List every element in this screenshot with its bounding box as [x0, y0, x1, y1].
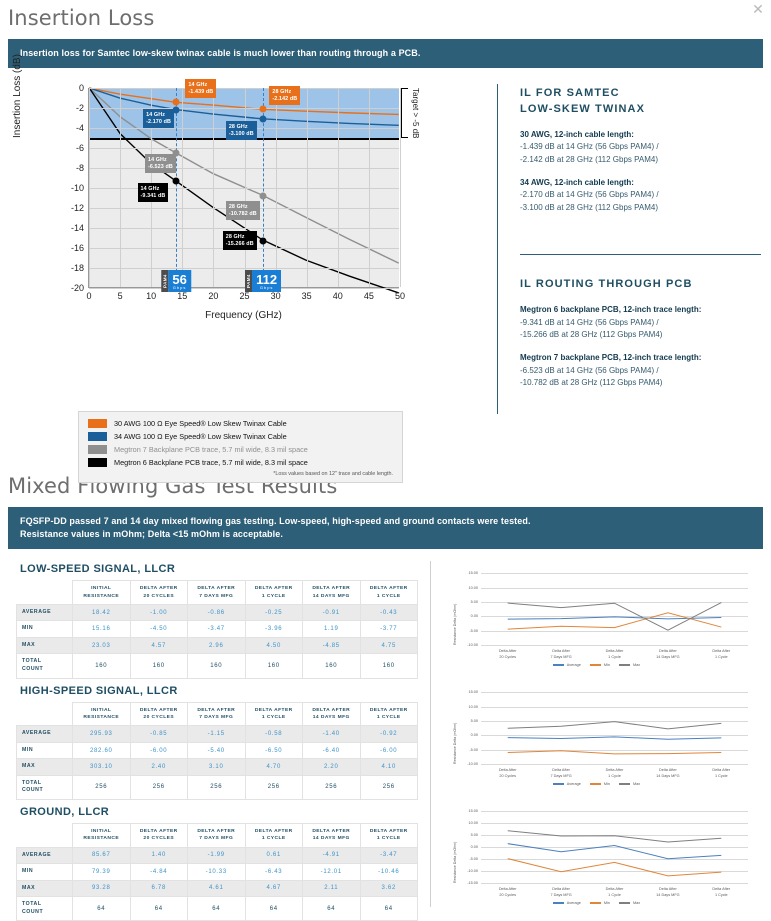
chart-data-point	[260, 106, 267, 113]
chart-gridline-h	[89, 148, 399, 149]
page-title-insertion-loss: Insertion Loss	[0, 0, 771, 30]
table-cell: -0.25	[245, 604, 303, 621]
mini-chart-x-tick: Delta After 1 Cycle	[606, 887, 624, 898]
mini-chart-gridline	[481, 645, 748, 646]
table-cell: -6.40	[303, 742, 361, 759]
table-cell: 64	[360, 897, 418, 921]
table-row: MAX23.034.572.964.50-4.854.75	[17, 637, 418, 654]
table-cell: -0.85	[130, 726, 188, 743]
chart-callout-label: 14 GHz -2.170 dB	[143, 109, 174, 128]
mini-chart-y-tick: -10.00	[467, 643, 478, 647]
insertion-loss-body: Insertion Loss (dB) 05101520253035404550…	[0, 68, 771, 420]
mini-chart-series-line	[508, 603, 722, 631]
mini-chart-legend-swatch	[590, 664, 601, 666]
chart-x-tick: 35	[302, 291, 312, 301]
mini-chart-y-axis-title: Resistance Delta (mOhm)	[453, 692, 457, 764]
chart-x-tick: 15	[177, 291, 187, 301]
chart-y-tick: 0	[79, 83, 84, 93]
table-cell: 2.40	[130, 759, 188, 776]
mfg-mini-chart: Resistance Delta (mOhm)15.0010.005.000.0…	[439, 807, 754, 904]
il-30awg-line2: -2.142 dB at 28 GHz (112 Gbps PAM4)	[520, 154, 761, 166]
chart-legend: 30 AWG 100 Ω Eye Speed® Low Skew Twinax …	[78, 411, 403, 483]
chart-legend-note: *Loss values based on 12" trace and cabl…	[88, 471, 393, 477]
mini-chart-legend-label: Max	[633, 663, 640, 667]
mini-chart-plot-area: 15.0010.005.000.00-5.00-10.00-15.00Delta…	[481, 811, 748, 883]
mini-chart-y-tick: 15.00	[468, 809, 478, 813]
table-title: GROUND, LLCR	[20, 806, 430, 818]
table-cell: 64	[245, 897, 303, 921]
chart-data-point	[260, 116, 267, 123]
table-cell: 4.50	[245, 637, 303, 654]
il-pcb-heading: IL ROUTING THROUGH PCB	[520, 277, 761, 293]
mini-chart-legend-item: Max	[619, 901, 640, 905]
mini-chart-series-line	[508, 859, 722, 876]
table-cell: 64	[188, 897, 246, 921]
mini-chart-legend: AverageMinMax	[439, 901, 754, 905]
table-cell: 64	[130, 897, 188, 921]
table-column-header	[17, 823, 73, 847]
table-row: TOTAL COUNT646464646464	[17, 897, 418, 921]
mini-chart-x-tick: Delta After 20 Cycles	[499, 649, 517, 660]
chart-gridline-h	[89, 108, 399, 109]
llcr-table: INITIAL RESISTANCEDELTA AFTER 20 CYCLESD…	[16, 702, 418, 800]
mini-chart-gridline	[481, 764, 748, 765]
table-cell: -0.92	[360, 726, 418, 743]
legend-label: Megtron 7 Backplane PCB trace, 5.7 mil w…	[114, 445, 308, 454]
legend-swatch	[88, 419, 107, 428]
table-cell: -0.86	[188, 604, 246, 621]
il-30awg-title: 30 AWG, 12-inch cable length:	[520, 129, 761, 141]
mini-chart-legend-label: Average	[567, 782, 581, 786]
table-cell: 160	[245, 654, 303, 678]
mini-chart-x-tick: Delta After 1 Cycle	[606, 649, 624, 660]
legend-item: 34 AWG 100 Ω Eye Speed® Low Skew Twinax …	[88, 432, 393, 441]
mini-chart-legend-label: Max	[633, 901, 640, 905]
table-cell: 303.10	[73, 759, 131, 776]
chart-y-tick: -12	[71, 203, 84, 213]
table-cell: 18.42	[73, 604, 131, 621]
chart-gridline-h	[89, 88, 399, 89]
mini-chart-y-tick: -5.00	[469, 629, 478, 633]
table-cell: 256	[73, 775, 131, 799]
chart-x-tick: 45	[364, 291, 374, 301]
mini-chart-x-tick: Delta After 1 Cycle	[712, 768, 730, 779]
table-row-header: AVERAGE	[17, 847, 73, 864]
table-cell: 6.78	[130, 880, 188, 897]
table-cell: 295.93	[73, 726, 131, 743]
chart-target-bracket: Target > -5 dB	[401, 88, 423, 138]
mini-chart-y-tick: 0.00	[471, 614, 478, 618]
table-row-header: MAX	[17, 759, 73, 776]
mini-chart-y-tick: 10.00	[468, 821, 478, 825]
pam4-tag: PAM4	[161, 270, 168, 292]
table-cell: -10.46	[360, 864, 418, 881]
mini-chart-series-line	[508, 613, 722, 629]
table-cell: 256	[188, 775, 246, 799]
table-cell: 256	[245, 775, 303, 799]
chart-y-tick: -4	[76, 123, 84, 133]
legend-swatch	[88, 458, 107, 467]
table-row: AVERAGE85.671.40-1.990.61-4.91-3.47	[17, 847, 418, 864]
table-cell: -4.50	[130, 621, 188, 638]
mini-chart-legend-swatch	[553, 664, 564, 666]
mini-chart-x-tick: Delta After 7 Days MFG	[550, 768, 571, 779]
table-cell: 4.67	[245, 880, 303, 897]
chart-gridline-h	[89, 188, 399, 189]
il-megtron6-line1: -9.341 dB at 14 GHz (56 Gbps PAM4) /	[520, 317, 761, 329]
table-column-header: DELTA AFTER 20 CYCLES	[130, 702, 188, 726]
mini-chart-legend: AverageMinMax	[439, 663, 754, 667]
table-cell: 160	[130, 654, 188, 678]
table-column-header: DELTA AFTER 14 DAYS MFG	[303, 702, 361, 726]
mini-chart-y-tick: 5.00	[471, 833, 478, 837]
table-cell: -0.58	[245, 726, 303, 743]
table-row: MIN79.39-4.84-10.33-6.43-12.01-10.46	[17, 864, 418, 881]
table-cell: -12.01	[303, 864, 361, 881]
mini-chart-legend-label: Min	[604, 782, 610, 786]
mini-chart-series-line	[508, 722, 722, 729]
chart-x-axis-title: Frequency (GHz)	[88, 310, 399, 321]
mini-chart-legend-label: Min	[604, 663, 610, 667]
mini-chart-series-svg	[481, 692, 748, 764]
table-row-header: MIN	[17, 864, 73, 881]
mini-chart-legend-swatch	[619, 664, 630, 666]
chart-pam4-badge: PAM4112Gbps	[245, 270, 281, 292]
chart-marker-line	[176, 88, 177, 287]
table-column-header: DELTA AFTER 7 DAYS MFG	[188, 823, 246, 847]
chart-plot-area: 051015202530354045500-2-4-6-8-10-12-14-1…	[88, 88, 399, 288]
mini-chart-legend-item: Average	[553, 663, 581, 667]
table-column-header	[17, 581, 73, 605]
pam4-rate: 56Gbps	[168, 270, 190, 292]
chart-gridline-h	[89, 228, 399, 229]
table-cell: -6.00	[130, 742, 188, 759]
chart-y-tick: -20	[71, 283, 84, 293]
table-cell: 4.75	[360, 637, 418, 654]
table-cell: 64	[303, 897, 361, 921]
legend-label: Megtron 6 Backplane PCB trace, 5.7 mil w…	[114, 458, 308, 467]
table-cell: -3.96	[245, 621, 303, 638]
mini-chart-x-tick: Delta After 20 Cycles	[499, 887, 517, 898]
table-cell: -3.47	[188, 621, 246, 638]
il-megtron7-line1: -6.523 dB at 14 GHz (56 Gbps PAM4) /	[520, 365, 761, 377]
il-megtron7-block: Megtron 7 backplane PCB, 12-inch trace l…	[520, 352, 761, 389]
mini-chart-legend-label: Min	[604, 901, 610, 905]
table-row: TOTAL COUNT160160160160160160	[17, 654, 418, 678]
mini-chart-legend-swatch	[553, 902, 564, 904]
table-cell: 64	[73, 897, 131, 921]
table-cell: 2.20	[303, 759, 361, 776]
table-cell: 256	[360, 775, 418, 799]
mini-chart-legend-item: Min	[590, 782, 610, 786]
legend-swatch	[88, 445, 107, 454]
table-cell: 2.11	[303, 880, 361, 897]
il-samtec-heading-line2: LOW-SKEW TWINAX	[520, 102, 761, 118]
chart-y-axis-title: Insertion Loss (dB)	[12, 54, 23, 138]
table-row-header: AVERAGE	[17, 726, 73, 743]
table-column-header: INITIAL RESISTANCE	[73, 702, 131, 726]
mini-chart-plot-area: 15.0010.005.000.00-5.00-10.00Delta After…	[481, 692, 748, 764]
table-cell: -1.15	[188, 726, 246, 743]
mini-chart-y-tick: 15.00	[468, 690, 478, 694]
il-megtron7-line2: -10.782 dB at 28 GHz (112 Gbps PAM4)	[520, 377, 761, 389]
mini-chart-x-tick: Delta After 14 Days MFG	[656, 649, 679, 660]
mini-chart-series-line	[508, 737, 722, 739]
table-cell: -0.43	[360, 604, 418, 621]
table-row: MIN282.60-6.00-5.40-6.50-6.40-6.00	[17, 742, 418, 759]
table-cell: 1.40	[130, 847, 188, 864]
mini-chart-x-tick: Delta After 7 Days MFG	[550, 649, 571, 660]
legend-label: 30 AWG 100 Ω Eye Speed® Low Skew Twinax …	[114, 419, 287, 428]
table-cell: 1.19	[303, 621, 361, 638]
table-row: MAX93.286.784.614.672.113.62	[17, 880, 418, 897]
table-cell: -1.99	[188, 847, 246, 864]
mini-chart-series-line	[508, 844, 722, 859]
pam4-rate-number: 56	[172, 273, 186, 286]
table-title: HIGH-SPEED SIGNAL, LLCR	[20, 685, 430, 697]
table-column-header: DELTA AFTER 1 CYCLE	[245, 702, 303, 726]
mini-chart-x-tick: Delta After 14 Days MFG	[656, 887, 679, 898]
table-cell: -0.91	[303, 604, 361, 621]
chart-y-tick: -14	[71, 223, 84, 233]
chart-data-point	[260, 192, 267, 199]
table-column-header: DELTA AFTER 14 DAYS MFG	[303, 823, 361, 847]
table-column-header: DELTA AFTER 20 CYCLES	[130, 581, 188, 605]
panel-divider	[520, 254, 761, 255]
chart-x-tick: 10	[146, 291, 156, 301]
llcr-table: INITIAL RESISTANCEDELTA AFTER 20 CYCLESD…	[16, 580, 418, 678]
table-cell: 93.28	[73, 880, 131, 897]
table-cell: 3.10	[188, 759, 246, 776]
table-cell: -4.85	[303, 637, 361, 654]
mini-chart-legend-item: Average	[553, 901, 581, 905]
table-cell: -6.00	[360, 742, 418, 759]
il-34awg-block: 34 AWG, 12-inch cable length: -2.170 dB …	[520, 177, 761, 214]
chart-callout-label: 28 GHz -2.142 dB	[269, 86, 300, 105]
mini-chart-legend-label: Average	[567, 663, 581, 667]
table-cell: 4.61	[188, 880, 246, 897]
insertion-loss-chart-panel: Insertion Loss (dB) 05101520253035404550…	[0, 78, 497, 420]
table-cell: -3.77	[360, 621, 418, 638]
table-column-header: INITIAL RESISTANCE	[73, 823, 131, 847]
legend-swatch	[88, 432, 107, 441]
table-cell: -5.40	[188, 742, 246, 759]
pam4-rate: 112Gbps	[252, 270, 281, 292]
table-row-header: TOTAL COUNT	[17, 654, 73, 678]
legend-item: Megtron 6 Backplane PCB trace, 5.7 mil w…	[88, 458, 393, 467]
mini-chart-y-tick: 10.00	[468, 705, 478, 709]
il-megtron6-block: Megtron 6 backplane PCB, 12-inch trace l…	[520, 304, 761, 341]
close-icon[interactable]: ✕	[749, 0, 767, 18]
table-row-header: AVERAGE	[17, 604, 73, 621]
mini-chart-x-tick: Delta After 7 Days MFG	[550, 887, 571, 898]
table-column-header: DELTA AFTER 20 CYCLES	[130, 823, 188, 847]
table-cell: 0.61	[245, 847, 303, 864]
table-column-header: DELTA AFTER 1 CYCLE	[360, 581, 418, 605]
chart-x-tick: 25	[239, 291, 249, 301]
insertion-loss-banner: Insertion loss for Samtec low-skew twina…	[8, 39, 763, 68]
chart-x-tick: 40	[333, 291, 343, 301]
mini-chart-series-svg	[481, 573, 748, 645]
table-cell: 4.70	[245, 759, 303, 776]
il-megtron6-title: Megtron 6 backplane PCB, 12-inch trace l…	[520, 304, 761, 316]
mini-chart-legend-swatch	[619, 902, 630, 904]
mini-chart-y-tick: 10.00	[468, 586, 478, 590]
chart-callout-label: 14 GHz -6.523 dB	[145, 154, 176, 173]
table-column-header: DELTA AFTER 1 CYCLE	[360, 823, 418, 847]
chart-data-point	[173, 99, 180, 106]
chart-gridline-h	[89, 168, 399, 169]
mini-chart-x-tick: Delta After 20 Cycles	[499, 768, 517, 779]
table-cell: 4.57	[130, 637, 188, 654]
pam4-rate-number: 112	[256, 273, 277, 286]
chart-y-tick: -6	[76, 143, 84, 153]
chart-y-tick: -10	[71, 183, 84, 193]
il-34awg-line2: -3.100 dB at 28 GHz (112 Gbps PAM4)	[520, 202, 761, 214]
chart-y-tick: -16	[71, 243, 84, 253]
mini-chart-legend-item: Average	[553, 782, 581, 786]
table-row-header: MAX	[17, 880, 73, 897]
mini-chart-legend-swatch	[590, 783, 601, 785]
table-cell: -1.00	[130, 604, 188, 621]
table-column-header: DELTA AFTER 1 CYCLE	[245, 823, 303, 847]
table-column-header: DELTA AFTER 7 DAYS MFG	[188, 702, 246, 726]
table-cell: 85.67	[73, 847, 131, 864]
mfg-charts-panel: Resistance Delta (mOhm)15.0010.005.000.0…	[431, 557, 771, 921]
document-page: ✕ Insertion Loss Insertion loss for Samt…	[0, 0, 771, 910]
table-row: TOTAL COUNT256256256256256256	[17, 775, 418, 799]
mini-chart-y-tick: 0.00	[471, 845, 478, 849]
table-cell: -1.40	[303, 726, 361, 743]
mfg-mini-chart: Resistance Delta (mOhm)15.0010.005.000.0…	[439, 688, 754, 785]
chart-y-tick: -8	[76, 163, 84, 173]
chart-x-tick: 0	[86, 291, 91, 301]
legend-item: 30 AWG 100 Ω Eye Speed® Low Skew Twinax …	[88, 419, 393, 428]
table-cell: -6.50	[245, 742, 303, 759]
mini-chart-y-tick: -15.00	[467, 881, 478, 885]
table-cell: 3.62	[360, 880, 418, 897]
mini-chart-y-tick: 5.00	[471, 600, 478, 604]
table-cell: 160	[303, 654, 361, 678]
mini-chart-y-tick: -10.00	[467, 762, 478, 766]
table-header-row: INITIAL RESISTANCEDELTA AFTER 20 CYCLESD…	[17, 581, 418, 605]
table-title: LOW-SPEED SIGNAL, LLCR	[20, 563, 430, 575]
insertion-loss-chart: Insertion Loss (dB) 05101520253035404550…	[18, 78, 418, 328]
chart-y-tick: -18	[71, 263, 84, 273]
mini-chart-legend-item: Max	[619, 663, 640, 667]
table-row-header: TOTAL COUNT	[17, 897, 73, 921]
pam4-rate-unit: Gbps	[260, 286, 274, 290]
chart-x-tick: 5	[118, 291, 123, 301]
il-34awg-title: 34 AWG, 12-inch cable length:	[520, 177, 761, 189]
pam4-tag: PAM4	[245, 270, 252, 292]
table-row: AVERAGE295.93-0.85-1.15-0.58-1.40-0.92	[17, 726, 418, 743]
mfg-body: LOW-SPEED SIGNAL, LLCRINITIAL RESISTANCE…	[0, 549, 771, 921]
mini-chart-x-tick: Delta After 1 Cycle	[606, 768, 624, 779]
mini-chart-legend-item: Max	[619, 782, 640, 786]
chart-data-point	[173, 178, 180, 185]
table-row: MIN15.16-4.50-3.47-3.961.19-3.77	[17, 621, 418, 638]
table-cell: -6.43	[245, 864, 303, 881]
table-cell: 160	[360, 654, 418, 678]
table-cell: 256	[130, 775, 188, 799]
insertion-loss-banner-text: Insertion loss for Samtec low-skew twina…	[20, 47, 751, 60]
mini-chart-series-line	[508, 831, 722, 842]
llcr-table: INITIAL RESISTANCEDELTA AFTER 20 CYCLESD…	[16, 823, 418, 921]
chart-callout-label: 28 GHz -15.266 dB	[223, 231, 257, 250]
table-cell: 160	[188, 654, 246, 678]
table-cell: 15.16	[73, 621, 131, 638]
table-row-header: MIN	[17, 742, 73, 759]
table-cell: -4.91	[303, 847, 361, 864]
mfg-banner: FQSFP-DD passed 7 and 14 day mixed flowi…	[8, 507, 763, 549]
table-column-header: DELTA AFTER 14 DAYS MFG	[303, 581, 361, 605]
mini-chart-x-tick: Delta After 1 Cycle	[712, 887, 730, 898]
mini-chart-x-tick: Delta After 1 Cycle	[712, 649, 730, 660]
il-megtron6-line2: -15.266 dB at 28 GHz (112 Gbps PAM4)	[520, 329, 761, 341]
mini-chart-legend-swatch	[619, 783, 630, 785]
table-row-header: MAX	[17, 637, 73, 654]
mfg-mini-chart: Resistance Delta (mOhm)15.0010.005.000.0…	[439, 569, 754, 666]
table-cell: -10.33	[188, 864, 246, 881]
chart-gridline-h	[89, 288, 399, 289]
mini-chart-gridline	[481, 883, 748, 884]
table-column-header: INITIAL RESISTANCE	[73, 581, 131, 605]
table-header-row: INITIAL RESISTANCEDELTA AFTER 20 CYCLESD…	[17, 702, 418, 726]
table-cell: -4.84	[130, 864, 188, 881]
mini-chart-y-tick: 0.00	[471, 733, 478, 737]
il-samtec-heading-line1: IL FOR SAMTEC	[520, 86, 761, 102]
table-cell: 282.60	[73, 742, 131, 759]
mini-chart-legend-swatch	[553, 783, 564, 785]
il-30awg-block: 30 AWG, 12-inch cable length: -1.439 dB …	[520, 129, 761, 166]
chart-target-bracket-label: Target > -5 dB	[411, 88, 420, 138]
table-cell: 256	[303, 775, 361, 799]
chart-callout-label: 14 GHz -1.439 dB	[185, 79, 216, 98]
chart-x-tick: 30	[271, 291, 281, 301]
table-header-row: INITIAL RESISTANCEDELTA AFTER 20 CYCLESD…	[17, 823, 418, 847]
table-cell: -3.47	[360, 847, 418, 864]
table-row: AVERAGE18.42-1.00-0.86-0.25-0.91-0.43	[17, 604, 418, 621]
mfg-tables-panel: LOW-SPEED SIGNAL, LLCRINITIAL RESISTANCE…	[0, 557, 430, 921]
chart-callout-label: 28 GHz -10.782 dB	[226, 201, 260, 220]
il-34awg-line1: -2.170 dB at 14 GHz (56 Gbps PAM4) /	[520, 189, 761, 201]
chart-gridline-h	[89, 268, 399, 269]
mini-chart-legend-swatch	[590, 902, 601, 904]
legend-item: Megtron 7 Backplane PCB trace, 5.7 mil w…	[88, 445, 393, 454]
table-cell: 79.39	[73, 864, 131, 881]
pam4-rate-unit: Gbps	[173, 286, 187, 290]
il-samtec-heading: IL FOR SAMTEC LOW-SKEW TWINAX	[520, 86, 761, 118]
chart-callout-label: 14 GHz -9.341 dB	[138, 183, 169, 202]
table-cell: 4.10	[360, 759, 418, 776]
insertion-loss-text-panel: IL FOR SAMTEC LOW-SKEW TWINAX 30 AWG, 12…	[498, 78, 771, 420]
mini-chart-legend-label: Average	[567, 901, 581, 905]
mini-chart-series-line	[508, 751, 722, 754]
chart-data-point	[260, 237, 267, 244]
mini-chart-legend-item: Min	[590, 901, 610, 905]
table-row-header: MIN	[17, 621, 73, 638]
chart-callout-label: 28 GHz -3.100 dB	[226, 121, 257, 140]
mini-chart-series-svg	[481, 811, 748, 883]
chart-y-tick: -2	[76, 103, 84, 113]
table-cell: 23.03	[73, 637, 131, 654]
mini-chart-legend-label: Max	[633, 782, 640, 786]
mfg-banner-text: FQSFP-DD passed 7 and 14 day mixed flowi…	[20, 515, 751, 541]
mini-chart-y-tick: 5.00	[471, 719, 478, 723]
table-cell: 2.96	[188, 637, 246, 654]
mini-chart-plot-area: 15.0010.005.000.00-5.00-10.00Delta After…	[481, 573, 748, 645]
